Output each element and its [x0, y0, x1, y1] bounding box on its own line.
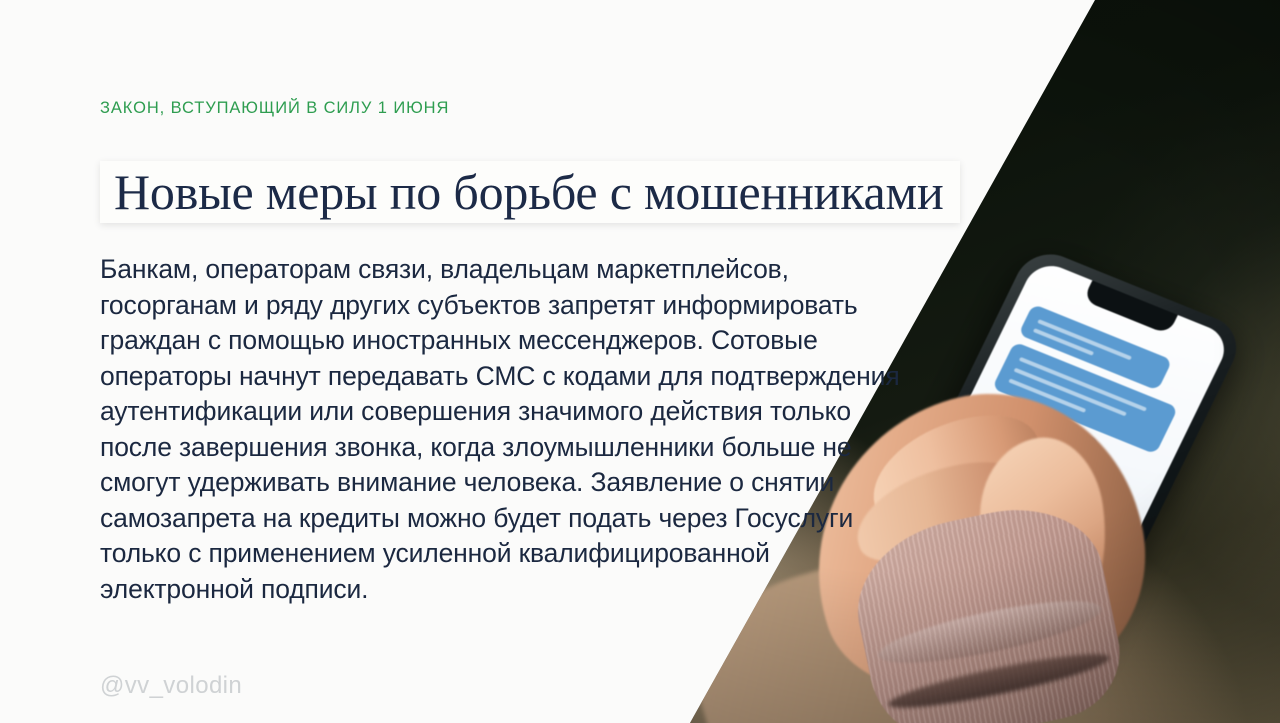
body-paragraph: Банкам, операторам связи, владельцам мар…: [100, 252, 920, 607]
eyebrow-label: ЗАКОН, ВСТУПАЮЩИЙ В СИЛУ 1 ИЮНЯ: [100, 99, 449, 118]
title-band: Новые меры по борьбе с мошенниками: [100, 161, 960, 223]
page-title: Новые меры по борьбе с мошенниками: [114, 167, 944, 217]
body-copy: Банкам, операторам связи, владельцам мар…: [100, 252, 920, 607]
content-layer: ЗАКОН, ВСТУПАЮЩИЙ В СИЛУ 1 ИЮНЯ Новые ме…: [0, 0, 1280, 723]
author-handle: @vv_volodin: [100, 672, 242, 700]
slide-root: ЗАКОН, ВСТУПАЮЩИЙ В СИЛУ 1 ИЮНЯ Новые ме…: [0, 0, 1280, 723]
